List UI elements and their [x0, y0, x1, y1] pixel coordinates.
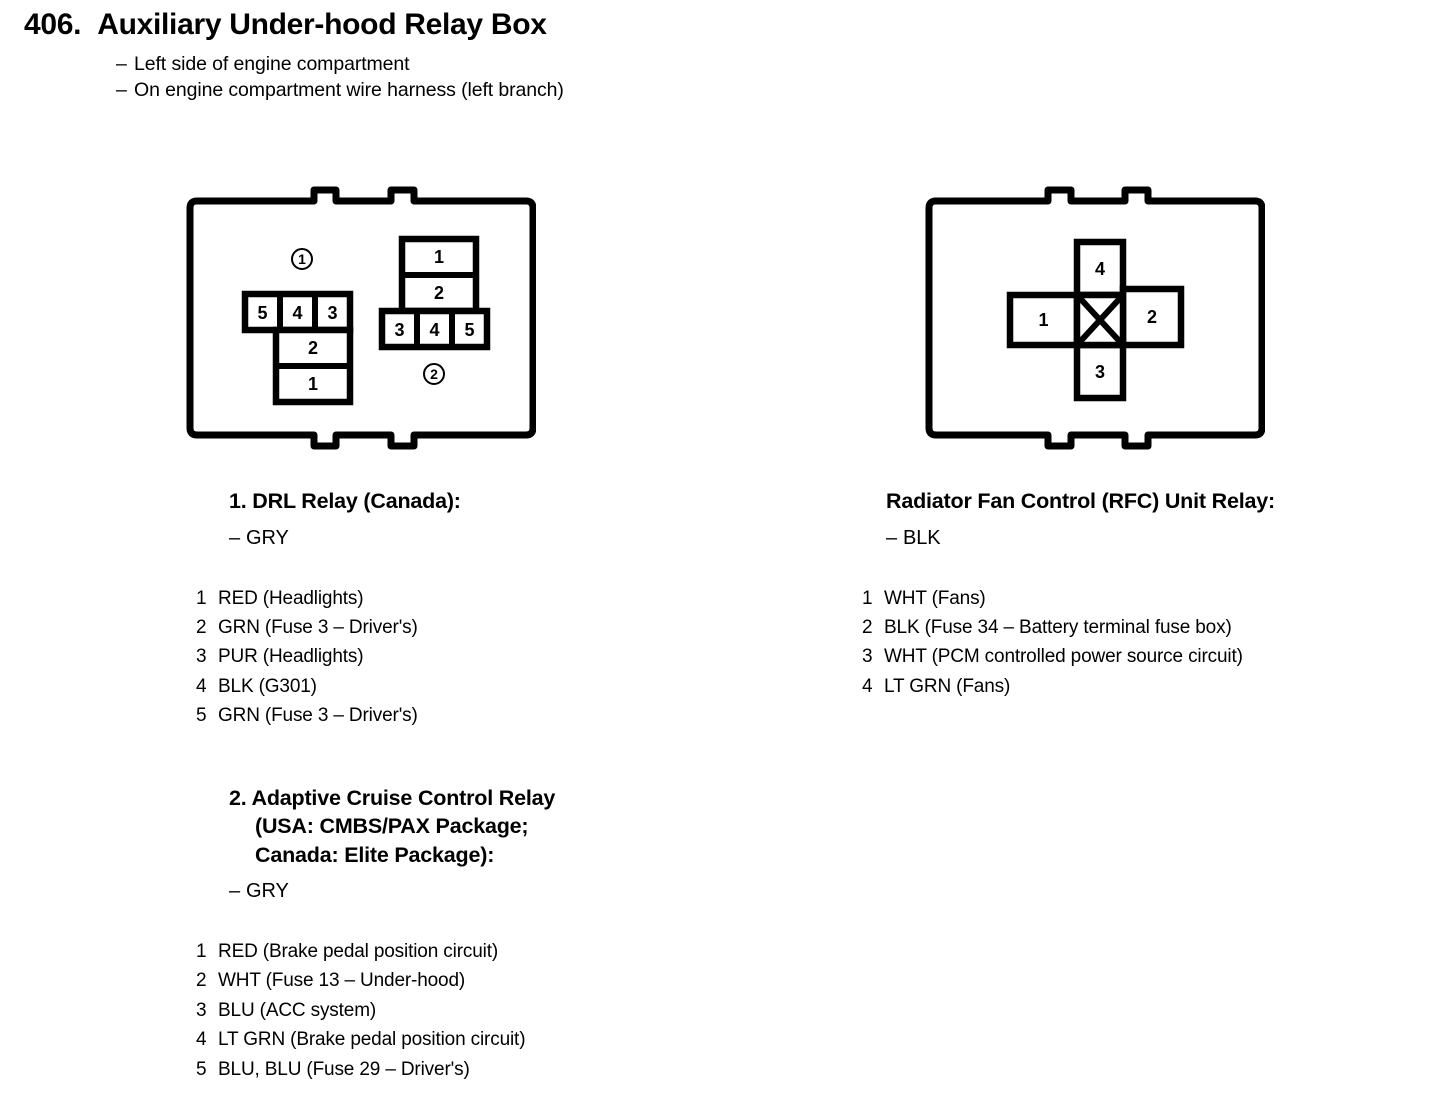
relay-color-drl: –GRY — [229, 525, 816, 551]
pin-number: 4 — [196, 672, 218, 701]
bullet-dash-icon: – — [116, 51, 134, 77]
pin-row: 5 GRN (Fuse 3 – Driver's) — [196, 701, 816, 730]
pin-row: 3 PUR (Headlights) — [196, 642, 816, 671]
pin-number: 3 — [196, 996, 218, 1025]
relay-section-rfc: Radiator Fan Control (RFC) Unit Relay: –… — [862, 487, 1422, 701]
pin-row: 3 BLU (ACC system) — [196, 996, 816, 1025]
location-bullet-list: –Left side of engine compartment –On eng… — [116, 51, 1024, 103]
location-bullet-1-text: On engine compartment wire harness (left… — [134, 79, 564, 101]
pin-row: 4 LT GRN (Brake pedal position circuit) — [196, 1025, 816, 1054]
pin-description: BLU (ACC system) — [218, 996, 816, 1025]
pin-number: 4 — [862, 672, 884, 701]
connector-1-shape — [245, 294, 350, 402]
pin-number: 1 — [862, 584, 884, 613]
pin-number: 2 — [862, 613, 884, 642]
page-title: 406. Auxiliary Under-hood Relay Box — [24, 8, 1024, 42]
pin-row: 1 RED (Brake pedal position circuit) — [196, 937, 816, 966]
pin-description: LT GRN (Brake pedal position circuit) — [218, 1025, 816, 1054]
pin-row: 2 BLK (Fuse 34 – Battery terminal fuse b… — [862, 613, 1422, 642]
pin-number: 1 — [196, 584, 218, 613]
rfc-connector-shape — [1010, 242, 1181, 398]
pin-description: GRN (Fuse 3 – Driver's) — [218, 613, 816, 642]
right-text-column: Radiator Fan Control (RFC) Unit Relay: –… — [862, 487, 1422, 701]
relay-color-acc-value: GRY — [246, 880, 289, 902]
location-bullet-0-text: Left side of engine compartment — [134, 53, 409, 75]
pin-row: 5 BLU, BLU (Fuse 29 – Driver's) — [196, 1055, 816, 1084]
pin-number: 4 — [196, 1025, 218, 1054]
color-dash-icon: – — [886, 525, 903, 551]
pin-description: LT GRN (Fans) — [884, 672, 1422, 701]
pin-list-drl: 1 RED (Headlights) 2 GRN (Fuse 3 – Drive… — [196, 584, 816, 731]
connector-1-marker: 1 — [291, 248, 313, 270]
pin-description: PUR (Headlights) — [218, 642, 816, 671]
pin-list-acc: 1 RED (Brake pedal position circuit) 2 W… — [196, 937, 816, 1084]
connector-2-marker: 2 — [423, 363, 445, 385]
pin-number: 2 — [196, 966, 218, 995]
relay-color-drl-value: GRY — [246, 527, 289, 549]
pin-row: 4 BLK (G301) — [196, 672, 816, 701]
pin-description: BLU, BLU (Fuse 29 – Driver's) — [218, 1055, 816, 1084]
pin-row: 4 LT GRN (Fans) — [862, 672, 1422, 701]
pin-number: 3 — [196, 642, 218, 671]
pin-description: WHT (Fuse 13 – Under-hood) — [218, 966, 816, 995]
relay-color-rfc: –BLK — [886, 525, 1422, 551]
pin-description: RED (Brake pedal position circuit) — [218, 937, 816, 966]
relay-heading-acc-line-2: Canada: Elite Package): — [229, 841, 816, 870]
relay-color-acc: –GRY — [229, 878, 816, 904]
pin-number: 2 — [196, 613, 218, 642]
relay-box-diagram-right: 4 1 2 3 — [925, 182, 1265, 464]
pin-description: BLK (G301) — [218, 672, 816, 701]
pin-description: WHT (PCM controlled power source circuit… — [884, 642, 1422, 671]
location-bullet-1: –On engine compartment wire harness (lef… — [116, 77, 1024, 103]
relay-section-acc: 2. Adaptive Cruise Control Relay (USA: C… — [196, 784, 816, 1085]
pin-row: 3 WHT (PCM controlled power source circu… — [862, 642, 1422, 671]
location-bullet-0: –Left side of engine compartment — [116, 51, 1024, 77]
left-text-column: 1. DRL Relay (Canada): –GRY 1 RED (Headl… — [196, 487, 816, 1084]
section-spacer — [196, 731, 816, 784]
pin-number: 1 — [196, 937, 218, 966]
pin-list-rfc: 1 WHT (Fans) 2 BLK (Fuse 34 – Battery te… — [862, 584, 1422, 702]
pin-description: BLK (Fuse 34 – Battery terminal fuse box… — [884, 613, 1422, 642]
color-dash-icon: – — [229, 525, 246, 551]
relay-section-drl: 1. DRL Relay (Canada): –GRY 1 RED (Headl… — [196, 487, 816, 731]
relay-box-right-svg — [925, 182, 1265, 464]
pin-row: 1 WHT (Fans) — [862, 584, 1422, 613]
pin-row: 2 WHT (Fuse 13 – Under-hood) — [196, 966, 816, 995]
relay-heading-drl: 1. DRL Relay (Canada): — [229, 487, 816, 516]
pin-description: WHT (Fans) — [884, 584, 1422, 613]
page-title-text: Auxiliary Under-hood Relay Box — [97, 8, 546, 42]
pin-description: GRN (Fuse 3 – Driver's) — [218, 701, 816, 730]
page-title-number: 406. — [24, 8, 81, 42]
pin-number: 5 — [196, 1055, 218, 1084]
relay-color-rfc-value: BLK — [903, 527, 941, 549]
bullet-dash-icon: – — [116, 77, 134, 103]
relay-heading-rfc: Radiator Fan Control (RFC) Unit Relay: — [886, 487, 1422, 516]
pin-row: 1 RED (Headlights) — [196, 584, 816, 613]
color-dash-icon: – — [229, 878, 246, 904]
relay-heading-acc-line-1: (USA: CMBS/PAX Package; — [229, 812, 816, 841]
pin-number: 3 — [862, 642, 884, 671]
pin-row: 2 GRN (Fuse 3 – Driver's) — [196, 613, 816, 642]
relay-box-diagram-left: 5 4 3 2 1 1 1 2 3 4 5 2 — [186, 178, 536, 460]
pin-description: RED (Headlights) — [218, 584, 816, 613]
connector-2-shape — [382, 239, 487, 347]
relay-box-left-svg — [186, 178, 536, 460]
relay-heading-acc-line-0: 2. Adaptive Cruise Control Relay — [229, 784, 816, 813]
page-header: 406. Auxiliary Under-hood Relay Box –Lef… — [24, 8, 1024, 103]
pin-number: 5 — [196, 701, 218, 730]
